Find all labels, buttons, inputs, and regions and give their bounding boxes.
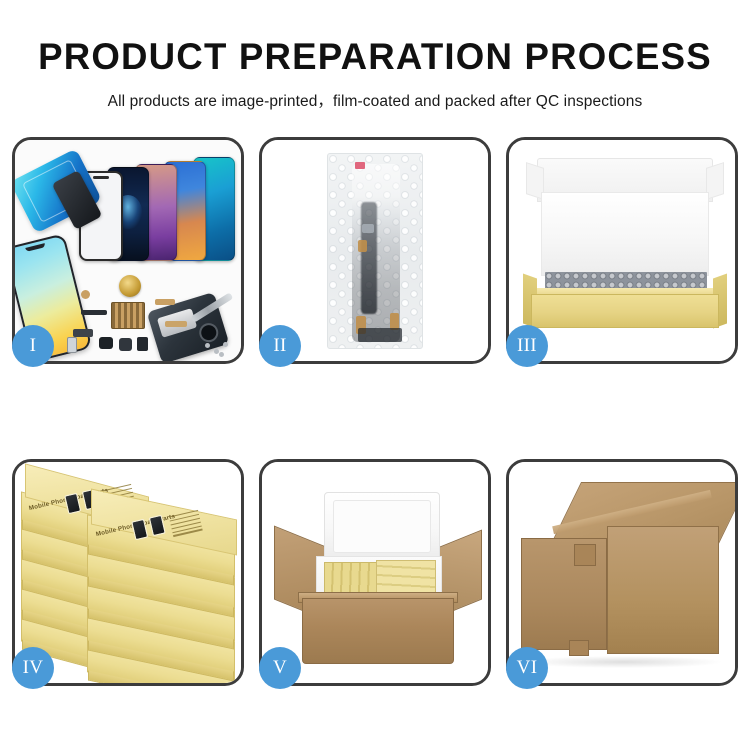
camera-module-part bbox=[99, 337, 113, 349]
step-panel-5: V bbox=[259, 459, 491, 686]
gold-flex-part-a bbox=[155, 299, 175, 305]
carton-tab-upper bbox=[574, 544, 596, 566]
step-image-2 bbox=[262, 140, 488, 361]
carton-tab-lower bbox=[569, 640, 589, 656]
taptic-engine-part bbox=[119, 338, 132, 351]
small-gold-part bbox=[81, 290, 90, 299]
step-badge-2: II bbox=[259, 325, 301, 367]
box-tray-front bbox=[531, 294, 719, 328]
process-steps-grid: I II bbox=[12, 137, 739, 685]
step-image-4: Mobile Phone Spare Parts Mobile Phone Sp… bbox=[15, 462, 241, 683]
step-panel-6: VI bbox=[506, 459, 738, 686]
step-badge-6: VI bbox=[506, 647, 548, 689]
connector-silver bbox=[362, 224, 374, 233]
step-badge-1: I bbox=[12, 325, 54, 367]
flex-cable-part bbox=[81, 310, 107, 315]
step-badge-4: IV bbox=[12, 647, 54, 689]
step-image-6 bbox=[509, 462, 735, 683]
gold-flex-part-b bbox=[165, 321, 187, 327]
chip-grid-part bbox=[111, 302, 145, 329]
phone-fan-group bbox=[72, 146, 237, 261]
speaker-part bbox=[73, 329, 93, 337]
open-flat-box bbox=[523, 158, 727, 344]
carton-shadow bbox=[525, 656, 721, 668]
page-title: PRODUCT PREPARATION PROCESS bbox=[4, 36, 747, 78]
product-preparation-process-page: PRODUCT PREPARATION PROCESS All products… bbox=[0, 0, 750, 750]
sim-tray-part bbox=[67, 337, 77, 353]
stacked-boxes: Mobile Phone Spare Parts Mobile Phone Sp… bbox=[21, 476, 235, 672]
page-header: PRODUCT PREPARATION PROCESS All products… bbox=[0, 0, 750, 111]
open-shipping-carton bbox=[272, 480, 484, 670]
carton-right-face bbox=[607, 526, 719, 654]
step-panel-1: I bbox=[12, 137, 244, 364]
white-foam-sheet bbox=[541, 192, 709, 276]
gold-connector-a bbox=[358, 240, 367, 252]
carton-front-panel bbox=[302, 598, 454, 664]
step-image-1 bbox=[15, 140, 241, 361]
bubble-wrap-bag bbox=[327, 153, 423, 349]
flex-cable-bottom bbox=[358, 328, 402, 342]
step-badge-5: V bbox=[259, 647, 301, 689]
step-image-3 bbox=[509, 140, 735, 361]
button-part bbox=[137, 337, 148, 351]
wireless-charging-coil bbox=[119, 275, 141, 297]
step-badge-3: III bbox=[506, 325, 548, 367]
phones-and-parts-scene bbox=[15, 140, 241, 361]
page-subtitle: All products are image-printed，film-coat… bbox=[0, 89, 750, 111]
foam-box-lid bbox=[324, 492, 440, 564]
pink-tape-label bbox=[355, 162, 365, 169]
sealed-shipping-carton bbox=[521, 482, 731, 670]
screws-group bbox=[205, 341, 231, 357]
screen-assembly bbox=[361, 202, 377, 314]
step-panel-4: Mobile Phone Spare Parts Mobile Phone Sp… bbox=[12, 459, 244, 686]
step-panel-3: III bbox=[506, 137, 738, 364]
step-image-5 bbox=[262, 462, 488, 683]
step-panel-2: II bbox=[259, 137, 491, 364]
